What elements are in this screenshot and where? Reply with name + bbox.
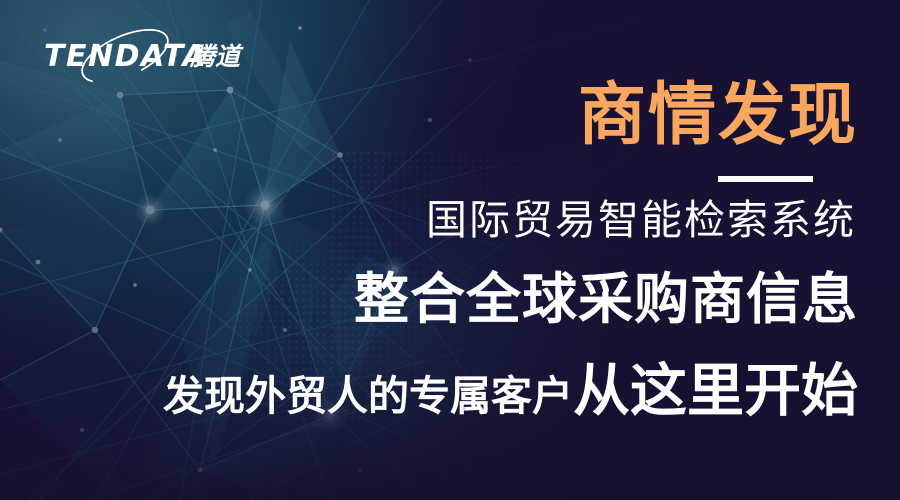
subtitle-text: 国际贸易智能检索系统: [426, 198, 856, 243]
headline-title: 商情发现: [578, 82, 858, 150]
tagline-secondary-small: 发现外贸人的专属客户: [163, 362, 573, 422]
copy-block: 商情发现 国际贸易智能检索系统 整合全球采购商信息 发现外贸人的专属客户 从这里…: [120, 0, 860, 500]
tagline-primary: 整合全球采购商信息: [354, 272, 858, 327]
tagline-secondary-big: 从这里开始: [573, 345, 858, 427]
headline-underline-rule: [718, 176, 813, 182]
promo-banner: TENDATA 腾道 商情发现 国际贸易智能检索系统 整合全球采购商信息 发现外…: [0, 0, 900, 500]
tagline-secondary: 发现外贸人的专属客户 从这里开始: [163, 345, 858, 427]
